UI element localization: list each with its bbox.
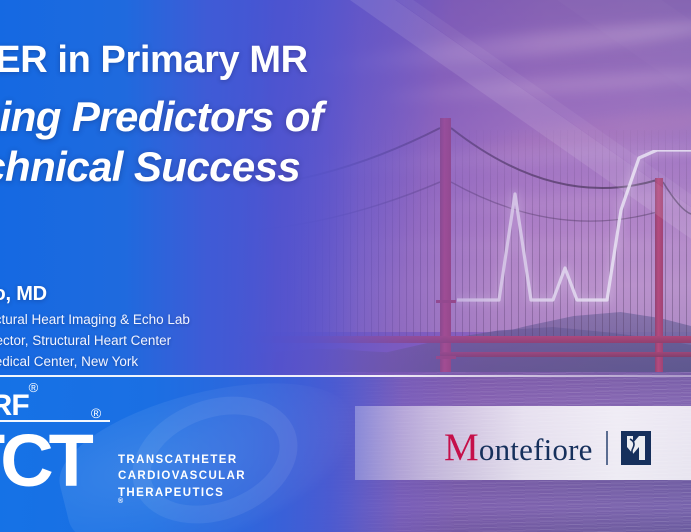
montefiore-initial: M <box>444 426 479 469</box>
presenter-name: Edwin Ho, MD <box>0 283 436 306</box>
title-block: M-TEER in Primary MR Imaging Predictors … <box>0 40 544 191</box>
presenter-affiliations: Director, Structural Heart Imaging & Ech… <box>0 310 436 373</box>
tct-tagline: TRANSCATHETER CARDIOVASCULAR THERAPEUTIC… <box>118 452 246 517</box>
tct-logo-text: TCT <box>0 419 89 502</box>
montefiore-logo: Montefiore <box>444 428 651 467</box>
slide-subtitle-line-2: Technical Success <box>0 142 544 192</box>
tct-tagline-line: TRANSCATHETER <box>118 452 246 468</box>
crf-registered-mark: ® <box>29 380 38 395</box>
tct-registered-mark: ® <box>91 405 101 421</box>
presentation-slide: M-TEER in Primary MR Imaging Predictors … <box>0 0 691 532</box>
tct-logo: TCT® <box>0 424 99 498</box>
tct-tagline-registered-mark: ® <box>118 498 125 505</box>
slide-title-line-1: M-TEER in Primary MR <box>0 40 544 80</box>
presenter-role-line: Director, Structural Heart Imaging & Ech… <box>0 310 436 331</box>
montefiore-wordmark: Montefiore <box>444 428 593 467</box>
tct-tagline-line: THERAPEUTICS <box>118 485 246 501</box>
slide-subtitle-line-1: Imaging Predictors of <box>0 92 544 142</box>
montefiore-emblem-icon <box>621 431 651 465</box>
presenter-role-line: Montefiore Medical Center, New York <box>0 352 436 373</box>
crf-logo: CRF® <box>0 389 37 423</box>
tct-tagline-line-last: THERAPEUTICS® <box>118 485 246 518</box>
presenter-block: Edwin Ho, MD Director, Structural Heart … <box>0 283 436 373</box>
montefiore-divider <box>606 431 608 465</box>
montefiore-wordmark-text: ontefiore <box>479 432 593 467</box>
crf-logo-text: CRF <box>0 389 29 422</box>
tct-tagline-line: CARDIOVASCULAR <box>118 468 246 484</box>
presenter-role-line: Associate Director, Structural Heart Cen… <box>0 331 436 352</box>
